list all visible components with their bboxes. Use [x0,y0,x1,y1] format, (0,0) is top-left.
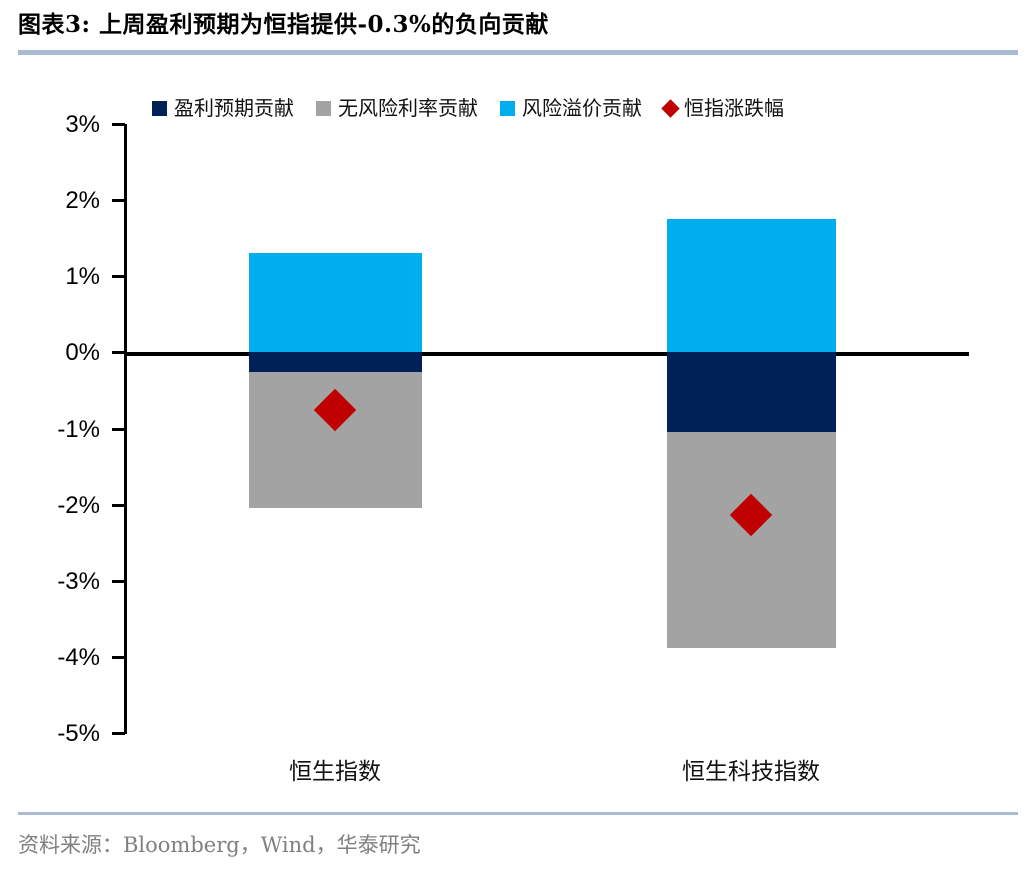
legend-label-riskfree: 无风险利率贡献 [338,98,478,118]
y-tick-mark [112,123,125,126]
y-tick-label: 2% [34,187,100,215]
chart-legend: 盈利预期贡献 无风险利率贡献 风险溢价贡献 恒指涨跌幅 [152,98,784,118]
bar-segment[interactable] [667,352,836,432]
y-tick-label: -1% [34,416,100,444]
y-tick-label: -5% [34,720,100,748]
y-tick-label: 1% [34,263,100,291]
legend-swatch-cyan-icon [500,101,515,116]
legend-diamond-red-icon [661,99,679,117]
y-tick-label: 0% [34,339,100,367]
legend-item-index-return[interactable]: 恒指涨跌幅 [664,98,784,118]
y-tick-mark [112,656,125,659]
y-tick-label: -2% [34,492,100,520]
y-tick-mark [112,275,125,278]
legend-label-riskpremium: 风险溢价贡献 [522,98,642,118]
legend-item-riskfree[interactable]: 无风险利率贡献 [316,98,478,118]
chart-plot-area: 盈利预期贡献 无风险利率贡献 风险溢价贡献 恒指涨跌幅 3%2%1%0%-1%-… [0,0,1036,800]
y-tick-label: -4% [34,644,100,672]
x-axis-category-label: 恒生科技指数 [682,752,820,786]
footer-divider [18,812,1018,815]
y-tick-label: 3% [34,111,100,139]
y-tick-mark [112,580,125,583]
legend-swatch-gray-icon [316,101,331,116]
source-note: 资料来源：Bloomberg，Wind，华泰研究 [18,829,1018,859]
x-axis-category-label: 恒生指数 [289,752,381,786]
legend-label-earnings: 盈利预期贡献 [174,98,294,118]
legend-item-earnings[interactable]: 盈利预期贡献 [152,98,294,118]
bar-segment[interactable] [249,253,422,353]
y-tick-label: -3% [34,568,100,596]
y-tick-mark [112,504,125,507]
legend-item-riskpremium[interactable]: 风险溢价贡献 [500,98,642,118]
bar-segment[interactable] [249,352,422,372]
y-tick-mark [112,428,125,431]
bar-segment[interactable] [667,432,836,647]
figure-footer: 资料来源：Bloomberg，Wind，华泰研究 [18,812,1018,859]
legend-swatch-navy-icon [152,101,167,116]
y-tick-mark [112,351,125,354]
y-tick-mark [112,199,125,202]
y-tick-mark [112,732,125,735]
bar-segment[interactable] [667,219,836,352]
legend-label-index-return: 恒指涨跌幅 [684,98,784,118]
